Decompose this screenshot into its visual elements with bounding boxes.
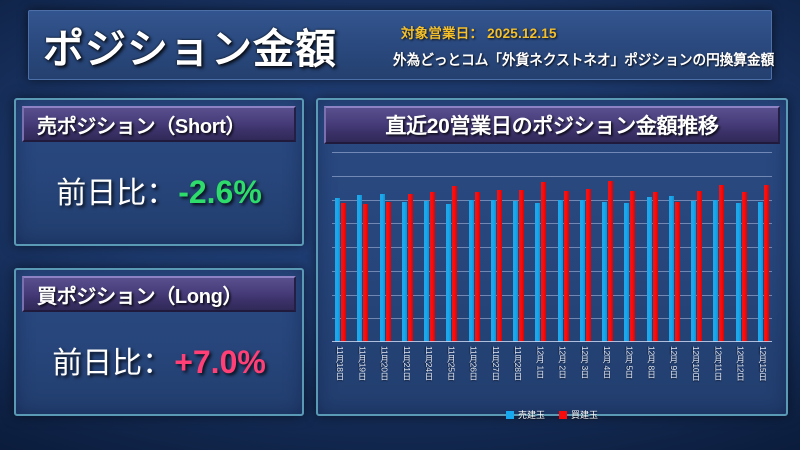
x-axis-label: 12月 9日 [669,344,680,404]
x-axis-label: 12月10日 [691,344,702,404]
x-axis-label: 12月 5日 [624,344,635,404]
bar-buy [541,182,546,342]
chart-panel-header: 直近20営業日のポジション金額推移 [324,106,780,144]
x-axis-label: 12月 1日 [535,344,546,404]
bar-buy [430,192,435,342]
bar-group [446,152,457,342]
bar-buy [697,191,702,342]
long-panel-header: 買ポジション（Long） [22,276,296,312]
legend-swatch [559,411,567,419]
x-axis-label: 11月28日 [513,344,524,404]
bar-buy [742,192,747,342]
bar-buy [630,191,635,342]
bar-sell [647,197,652,342]
bar-sell [669,196,674,342]
bar-buy [586,189,591,342]
long-stat-value: +7.0% [174,344,266,381]
bar-group [602,152,613,342]
bar-sell [402,202,407,342]
x-axis-label: 11月18日 [335,344,346,404]
bar-chart: 11月18日11月19日11月20日11月21日11月24日11月25日11月2… [324,146,780,408]
bar-buy [386,202,391,342]
chart-plot-area [332,152,772,342]
short-stat-label: 前日比： [56,168,176,212]
bar-sell [335,198,340,342]
bar-group [558,152,569,342]
bar-group [758,152,769,342]
target-business-date: 対象営業日： 2025.12.15 [401,22,557,42]
short-stat-value: -2.6% [178,174,262,211]
bar-group [402,152,413,342]
x-axis-label: 11月26日 [469,344,480,404]
bar-sell [380,194,385,342]
position-trend-chart-panel: 直近20営業日のポジション金額推移 11月18日11月19日11月20日11月2… [316,98,788,416]
page-title: ポジション金額 [43,15,337,75]
bar-sell [602,202,607,342]
bar-buy [452,186,457,342]
long-position-panel: 買ポジション（Long） 前日比： +7.0% [14,268,304,416]
chart-x-axis-line [332,341,772,343]
x-axis-label: 12月11日 [713,344,724,404]
bar-group [580,152,591,342]
bar-sell [758,202,763,342]
bar-sell [357,195,362,342]
bar-group [736,152,747,342]
x-axis-label: 12月 3日 [580,344,591,404]
bar-sell [446,204,451,342]
x-axis-label: 11月24日 [424,344,435,404]
bar-group [691,152,702,342]
x-axis-label: 11月27日 [491,344,502,404]
short-panel-header: 売ポジション（Short） [22,106,296,142]
legend-item: 買建玉 [559,408,598,421]
page-subtitle: 外為どっとコム「外貨ネクストネオ」ポジションの円換算金額 [393,49,774,70]
chart-legend: 売建玉買建玉 [324,408,780,421]
bar-group [357,152,368,342]
chart-bar-groups [332,152,772,342]
bar-group [624,152,635,342]
x-axis-label: 12月12日 [736,344,747,404]
bar-sell [535,203,540,342]
bar-buy [764,185,769,342]
bar-buy [519,190,524,342]
bar-buy [675,202,680,342]
bar-group [713,152,724,342]
x-axis-label: 11月25日 [446,344,457,404]
bar-sell [513,201,518,342]
bar-sell [691,201,696,342]
long-stat-row: 前日比： +7.0% [52,338,266,382]
bar-buy [653,192,658,342]
x-axis-label: 12月 2日 [558,344,569,404]
chart-x-axis-labels: 11月18日11月19日11月20日11月21日11月24日11月25日11月2… [332,344,772,404]
x-axis-label: 11月21日 [402,344,413,404]
bar-buy [497,190,502,342]
bar-buy [608,181,613,343]
short-position-panel: 売ポジション（Short） 前日比： -2.6% [14,98,304,246]
legend-item: 売建玉 [506,408,545,421]
chart-panel-title: 直近20営業日のポジション金額推移 [326,110,778,140]
short-stat-row: 前日比： -2.6% [56,168,262,212]
bar-group [647,152,658,342]
bar-sell [736,203,741,342]
bar-group [380,152,391,342]
bar-buy [341,203,346,342]
x-axis-label: 11月19日 [357,344,368,404]
bar-buy [363,204,368,342]
chart-panel-body: 11月18日11月19日11月20日11月21日11月24日11月25日11月2… [324,146,780,408]
short-panel-title: 売ポジション（Short） [24,110,245,139]
bar-sell [491,200,496,343]
bar-buy [475,192,480,342]
bar-sell [580,200,585,342]
title-banner: ポジション金額 対象営業日： 2025.12.15 外為どっとコム「外貨ネクスト… [28,10,772,80]
legend-swatch [506,411,514,419]
bar-buy [564,191,569,342]
x-axis-label: 12月15日 [758,344,769,404]
bar-sell [469,200,474,343]
short-panel-body: 前日比： -2.6% [22,142,296,238]
bar-group [513,152,524,342]
long-panel-title: 買ポジション（Long） [24,280,242,309]
bar-sell [424,201,429,342]
legend-label: 買建玉 [571,408,598,421]
bar-group [669,152,680,342]
bar-buy [719,185,724,342]
x-axis-label: 11月20日 [380,344,391,404]
bar-group [491,152,502,342]
bar-sell [713,200,718,342]
bar-sell [558,200,563,343]
long-panel-body: 前日比： +7.0% [22,312,296,408]
bar-group [535,152,546,342]
x-axis-label: 12月 4日 [602,344,613,404]
x-axis-label: 12月 8日 [647,344,658,404]
bar-group [424,152,435,342]
bar-group [469,152,480,342]
long-stat-label: 前日比： [52,338,172,382]
bar-group [335,152,346,342]
bar-sell [624,203,629,342]
bar-buy [408,194,413,342]
legend-label: 売建玉 [518,408,545,421]
